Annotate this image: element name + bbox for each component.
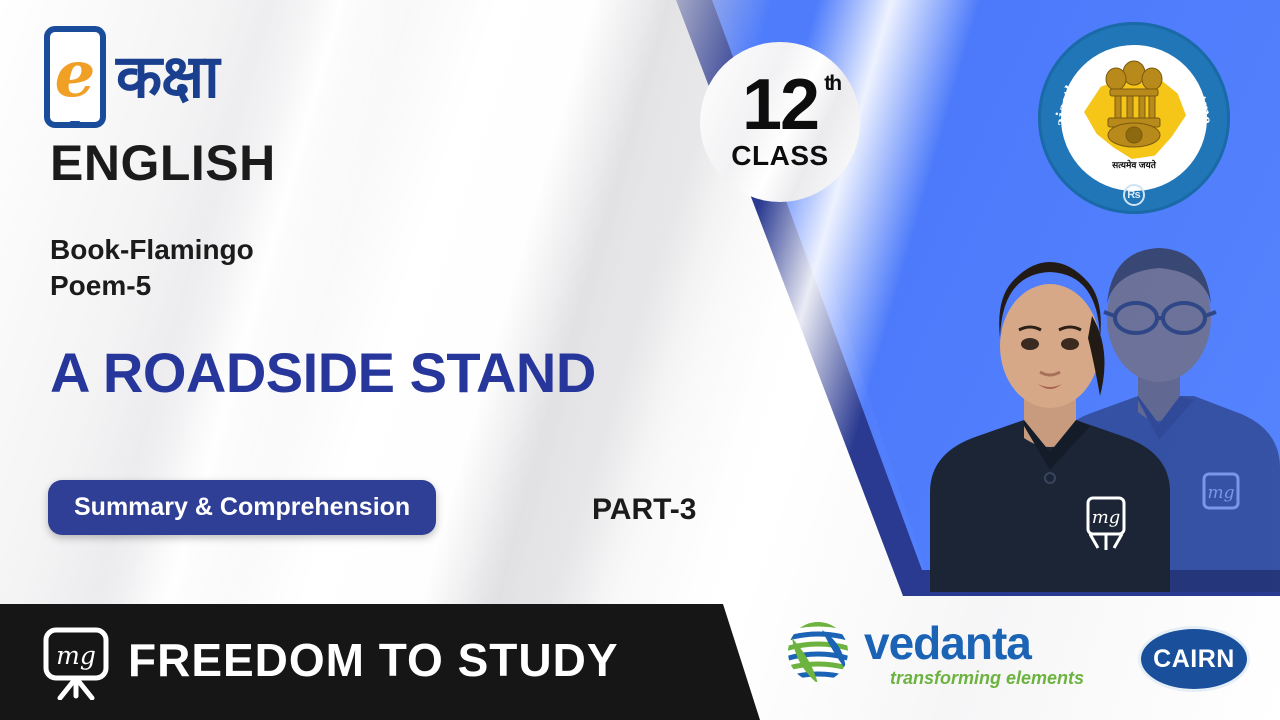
ashoka-pillar-icon [1096, 59, 1172, 159]
ekaksha-logo: e कक्षा [44, 26, 219, 128]
class-word-label: CLASS [731, 140, 828, 172]
vedanta-globe-icon [786, 620, 850, 684]
poem-number: Poem-5 [50, 268, 254, 304]
svg-text:mg: mg [56, 641, 96, 670]
instructor-photos: mg mg [900, 196, 1280, 596]
rajasthan-education-emblem: Rajasthan Education Department [1038, 22, 1230, 214]
footer-tagline: FREEDOM TO STUDY [128, 633, 619, 687]
logo-word-kaksha: कक्षा [116, 47, 219, 107]
vedanta-name: vedanta [864, 620, 1084, 666]
vedanta-wordmark: vedanta transforming elements [864, 620, 1084, 687]
phone-icon: e [44, 26, 106, 128]
cairn-name: CAIRN [1153, 645, 1235, 674]
vedanta-logo: vedanta transforming elements [786, 620, 1084, 687]
mg-easel-icon: mg [38, 624, 114, 700]
book-name: Book-Flamingo [50, 232, 254, 268]
thumbnail-canvas: e कक्षा ENGLISH Book-Flamingo Poem-5 A R… [0, 0, 1280, 720]
logo-letter-e: e [55, 43, 96, 107]
svg-text:mg: mg [1092, 507, 1121, 528]
part-label: PART-3 [592, 493, 696, 527]
status-badge: Summary & Comprehension [48, 480, 436, 535]
class-ordinal-suffix: th [824, 74, 840, 93]
svg-text:mg: mg [1207, 483, 1234, 503]
emblem-inner-disc: सत्यमेव जयते [1061, 45, 1207, 191]
class-number: 12th [742, 72, 818, 138]
book-info: Book-Flamingo Poem-5 [50, 232, 254, 305]
emblem-motto: सत्यमेव जयते [1112, 158, 1156, 171]
cairn-logo: CAIRN [1138, 626, 1250, 692]
class-badge: 12th CLASS [700, 42, 860, 202]
page-title: A ROADSIDE STAND [50, 340, 596, 405]
subject-heading: ENGLISH [50, 134, 276, 192]
vedanta-tagline: transforming elements [890, 669, 1084, 687]
instructor-photo-front: mg [920, 246, 1180, 592]
class-number-value: 12 [742, 65, 818, 145]
